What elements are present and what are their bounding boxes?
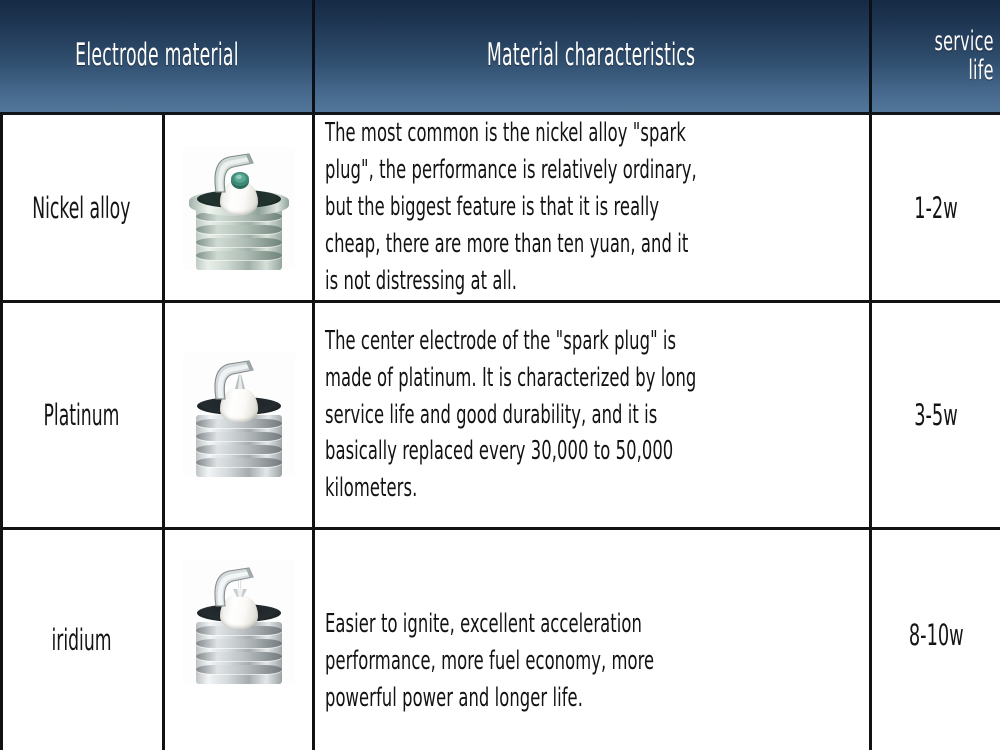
plug-threaded-barrel xyxy=(196,208,282,270)
material-name-label: Platinum xyxy=(43,398,119,432)
cell-material-image xyxy=(165,115,312,300)
cell-service-life: 3-5w xyxy=(872,303,1000,527)
service-life-value: 8-10w xyxy=(909,618,964,652)
cell-material-description: The most common is the nickel alloy "spa… xyxy=(315,115,869,300)
cell-material-name: Platinum xyxy=(0,303,162,527)
header-column-divider-2 xyxy=(869,0,872,112)
spark-plug-platinum-image xyxy=(183,353,295,477)
header-label-electrode-material: Electrode material xyxy=(75,39,239,72)
cell-material-description: Easier to ignite, excellent acceleration… xyxy=(315,530,869,750)
table-header-row: Electrode material Material characterist… xyxy=(0,0,1000,115)
cell-material-image xyxy=(165,530,312,750)
header-label-service-life: service life xyxy=(935,27,994,85)
cell-service-life: 8-10w xyxy=(872,530,1000,750)
header-label-material-characteristics: Material characteristics xyxy=(487,39,695,72)
spark-plug-iridium-image xyxy=(183,560,295,684)
table-row: Nickel alloy xyxy=(0,115,1000,300)
material-name-label: Nickel alloy xyxy=(32,191,130,225)
spark-plug-nickel-alloy-image xyxy=(183,146,295,270)
header-cell-service-life: service life xyxy=(870,0,1000,112)
service-life-value: 1-2w xyxy=(914,191,957,225)
electrode-material-comparison-table: Electrode material Material characterist… xyxy=(0,0,1000,750)
cell-material-description: The center electrode of the "spark plug"… xyxy=(315,303,869,527)
cell-material-name: iridium xyxy=(0,530,162,750)
plug-ground-electrode-hook xyxy=(209,565,257,613)
table-row: Platinum xyxy=(0,303,1000,527)
cell-service-life: 1-2w xyxy=(872,115,1000,300)
cell-material-image xyxy=(165,303,312,527)
service-life-value: 3-5w xyxy=(914,398,957,432)
material-description-text: Easier to ignite, excellent acceleration… xyxy=(325,606,699,717)
header-cell-electrode-material: Electrode material xyxy=(0,0,313,112)
plug-ground-electrode-hook xyxy=(209,151,257,199)
header-column-divider-1 xyxy=(312,0,315,112)
table-row: iridium xyxy=(0,530,1000,750)
plug-threaded-barrel xyxy=(196,622,282,684)
header-cell-material-characteristics: Material characteristics xyxy=(313,0,870,112)
cell-material-name: Nickel alloy xyxy=(0,115,162,300)
material-description-text: The most common is the nickel alloy "spa… xyxy=(325,115,699,300)
plug-ground-electrode-hook xyxy=(209,358,257,406)
material-description-text: The center electrode of the "spark plug"… xyxy=(325,323,699,508)
material-name-label: iridium xyxy=(51,623,111,657)
plug-threaded-barrel xyxy=(196,415,282,477)
